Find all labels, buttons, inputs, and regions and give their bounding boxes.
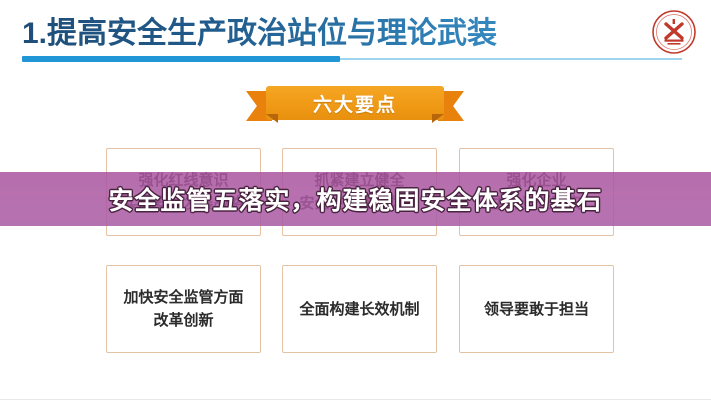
point-box-4-line1: 加快安全监管方面: [123, 286, 243, 309]
ribbon-banner: 六大要点: [266, 86, 444, 120]
slide-header: 1.提高安全生产政治站位与理论武装: [22, 14, 682, 60]
point-box-5-text: 全面构建长效机制: [293, 298, 425, 321]
point-box-4: 加快安全监管方面 改革创新: [106, 265, 261, 353]
point-box-6-text: 领导要敢于担当: [478, 298, 595, 321]
title-underline-thick: [22, 56, 340, 62]
red-circular-seal-icon: [651, 9, 697, 55]
point-box-5-line1: 全面构建长效机制: [299, 298, 419, 321]
page-title: 1.提高安全生产政治站位与理论武装: [22, 14, 682, 54]
point-box-6-line1: 领导要敢于担当: [484, 298, 589, 321]
ribbon-body: 六大要点: [266, 86, 444, 120]
point-box-4-line2: 改革创新: [123, 309, 243, 332]
point-box-6: 领导要敢于担当: [459, 265, 614, 353]
ribbon-label: 六大要点: [313, 90, 397, 117]
point-box-4-text: 加快安全监管方面 改革创新: [117, 286, 249, 332]
caption-overlay-text: 安全监管五落实，构建稳固安全体系的基石: [0, 172, 711, 226]
point-box-5: 全面构建长效机制: [282, 265, 437, 353]
presentation-slide: 1.提高安全生产政治站位与理论武装 六大要点 强化红线意识 实施安全发展战略: [0, 0, 711, 400]
